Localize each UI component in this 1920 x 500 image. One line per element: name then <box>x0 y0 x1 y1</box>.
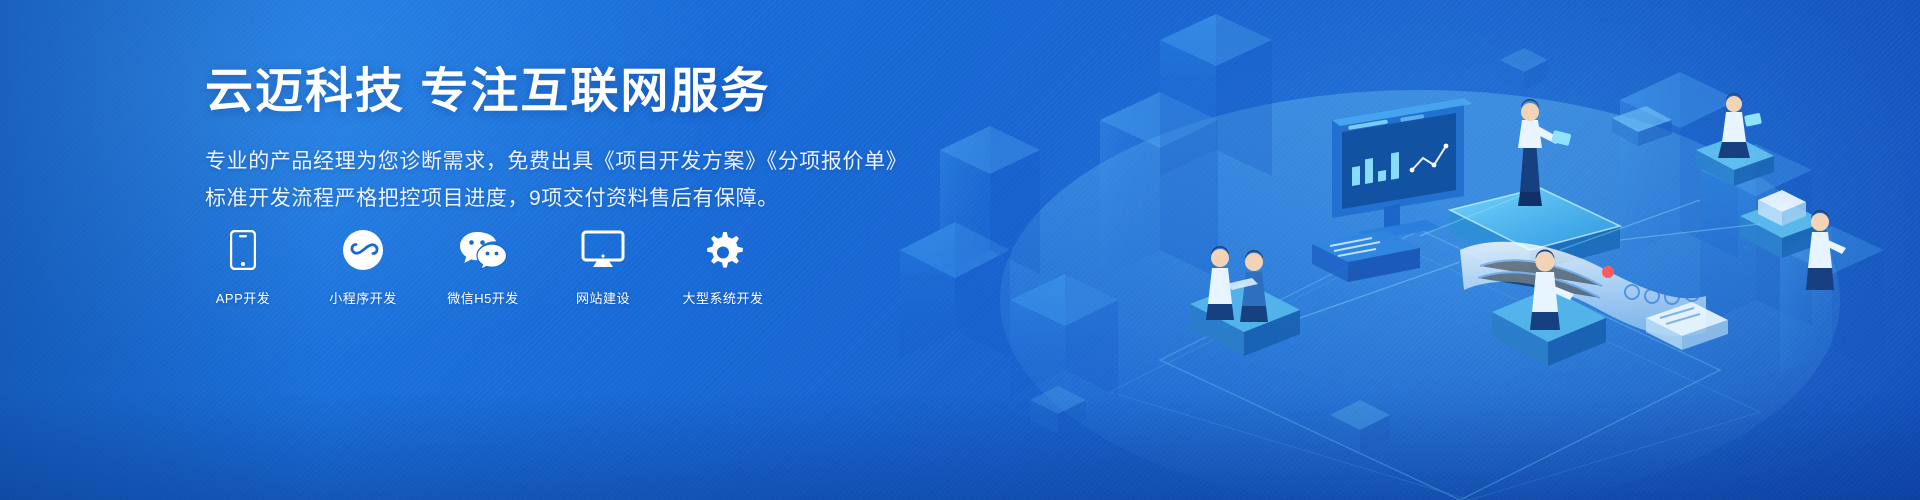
service-label: 小程序开发 <box>329 288 397 307</box>
service-item-mini-program[interactable]: 小程序开发 <box>325 228 401 307</box>
mini-program-icon <box>335 228 391 272</box>
hero-banner: 云迈科技 专注互联网服务 专业的产品经理为您诊断需求，免费出具《项目开发方案》《… <box>0 0 1920 500</box>
mobile-phone-icon <box>215 228 271 272</box>
monitor-icon <box>575 228 631 272</box>
service-item-large-system[interactable]: 大型系统开发 <box>685 228 761 307</box>
service-item-wechat-h5[interactable]: 微信H5开发 <box>445 228 521 307</box>
service-item-app[interactable]: APP开发 <box>205 228 281 307</box>
service-label: 网站建设 <box>576 288 630 307</box>
service-label: 微信H5开发 <box>447 288 519 307</box>
service-label: 大型系统开发 <box>683 288 764 307</box>
banner-subtitle: 专业的产品经理为您诊断需求，免费出具《项目开发方案》《分项报价单》 标准开发流程… <box>205 144 1105 218</box>
subtitle-line-2: 标准开发流程严格把控项目进度，9项交付资料售后有保障。 <box>205 181 1105 218</box>
service-item-website[interactable]: 网站建设 <box>565 228 641 307</box>
service-label: APP开发 <box>216 288 271 307</box>
page-title: 云迈科技 专注互联网服务 <box>205 62 1105 122</box>
banner-copy: 云迈科技 专注互联网服务 专业的产品经理为您诊断需求，免费出具《项目开发方案》《… <box>205 62 1105 218</box>
service-list: APP开发 小程序开发 微信 <box>205 228 761 307</box>
subtitle-line-1: 专业的产品经理为您诊断需求，免费出具《项目开发方案》《分项报价单》 <box>205 144 1105 181</box>
gear-icon <box>695 228 751 272</box>
wechat-icon <box>455 228 511 272</box>
